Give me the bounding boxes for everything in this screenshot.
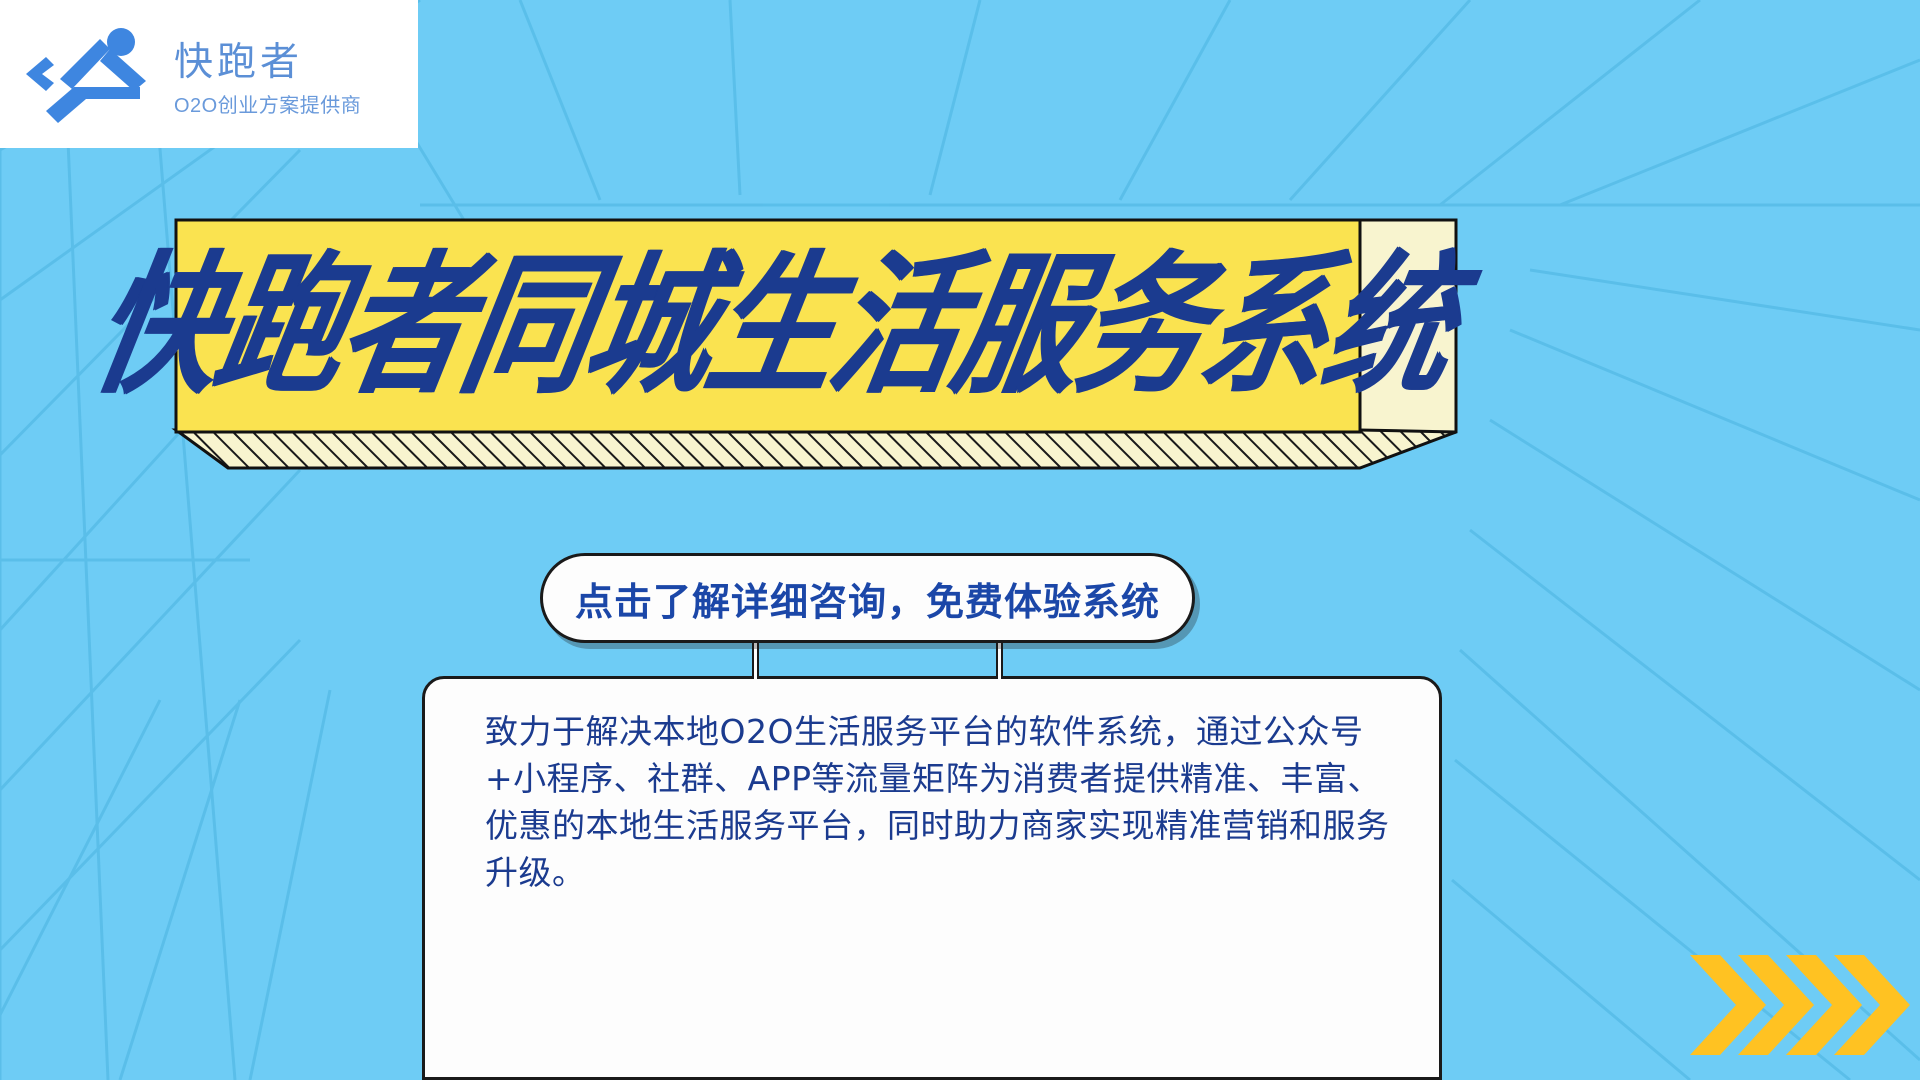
logo-brand-name: 快跑者 [174,31,361,87]
bubble-connector-left [752,641,759,679]
description-box: 致力于解决本地O2O生活服务平台的软件系统，通过公众号+小程序、社群、APP等流… [422,676,1442,1080]
logo-tagline: O2O创业方案提供商 [174,89,361,118]
banner-base-hatched [176,430,1456,468]
brand-logo-box: 快跑者 O2O创业方案提供商 [0,0,418,148]
bubble-connector-right [996,641,1003,679]
banner-title-text: 快跑者同城生活服务系统 [82,250,1465,403]
cta-speech-bubble[interactable]: 点击了解详细咨询，免费体验系统 [540,553,1195,643]
cta-speech-bubble-text: 点击了解详细咨询，免费体验系统 [575,571,1160,626]
chevron-arrows-decoration [1690,950,1920,1060]
banner-title-container: 快跑者同城生活服务系统 [176,220,1360,432]
running-person-logo-icon [14,19,164,129]
description-text: 致力于解决本地O2O生活服务平台的软件系统，通过公众号+小程序、社群、APP等流… [485,709,1395,896]
